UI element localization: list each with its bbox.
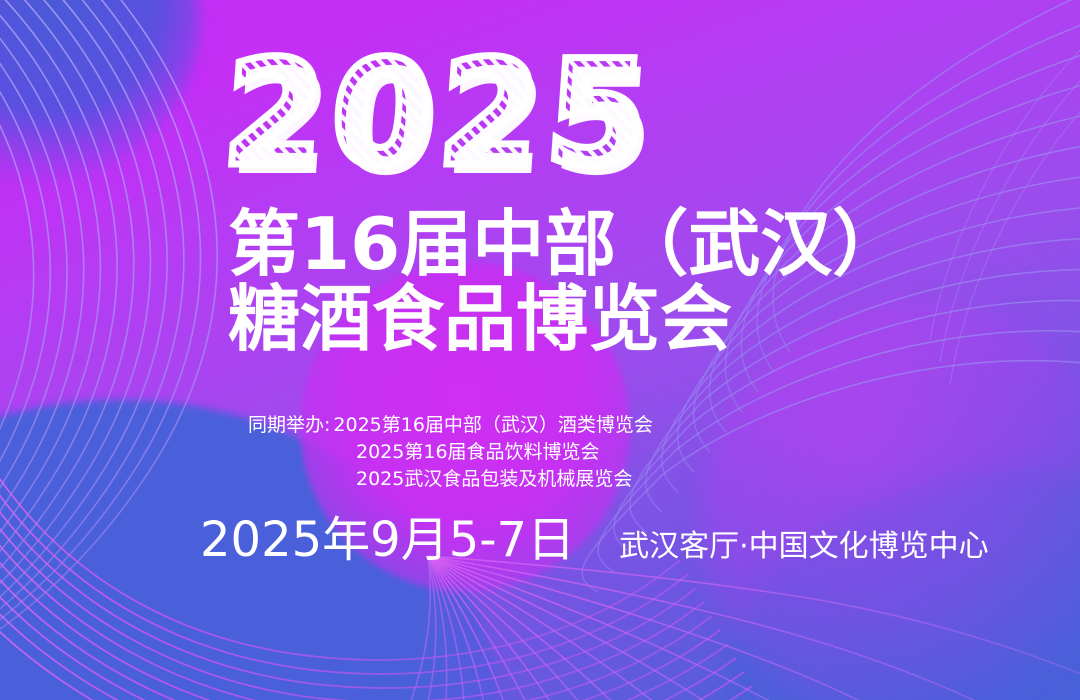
year-heading: 2025 2025 <box>228 52 678 192</box>
concurrent-event-1: 2025第16届中部（武汉）酒类博览会 <box>333 412 653 439</box>
concurrent-event-3: 2025武汉食品包装及机械展览会 <box>356 466 632 493</box>
date-venue-row: 2025年9月5-7日 武汉客厅·中国文化博览中心 <box>200 512 1020 575</box>
poster-content: 2025 2025 第16届中部（武汉） 糖酒食品博览会 同期举办: 2025第… <box>0 0 1080 700</box>
event-date: 2025年9月5-7日 <box>200 512 575 568</box>
main-title-line-2: 糖酒食品博览会 <box>228 282 988 357</box>
event-venue: 武汉客厅·中国文化博览中心 <box>619 519 989 575</box>
concurrent-events-label: 同期举办: <box>248 412 330 439</box>
year-heading-text: 2025 <box>218 29 660 199</box>
expo-poster: 2025 2025 第16届中部（武汉） 糖酒食品博览会 同期举办: 2025第… <box>0 0 1080 700</box>
concurrent-event-row-2: 2025第16届食品饮料博览会 <box>248 439 948 466</box>
main-title-line-1: 第16届中部（武汉） <box>228 207 988 282</box>
year-heading-graphic: 2025 2025 <box>228 52 678 192</box>
concurrent-event-row-3: 2025武汉食品包装及机械展览会 <box>248 466 948 493</box>
concurrent-event-2: 2025第16届食品饮料博览会 <box>356 439 600 466</box>
concurrent-events: 同期举办: 2025第16届中部（武汉）酒类博览会 2025第16届食品饮料博览… <box>248 412 948 493</box>
main-title: 第16届中部（武汉） 糖酒食品博览会 <box>228 207 988 357</box>
concurrent-event-row-1: 同期举办: 2025第16届中部（武汉）酒类博览会 <box>248 412 948 439</box>
